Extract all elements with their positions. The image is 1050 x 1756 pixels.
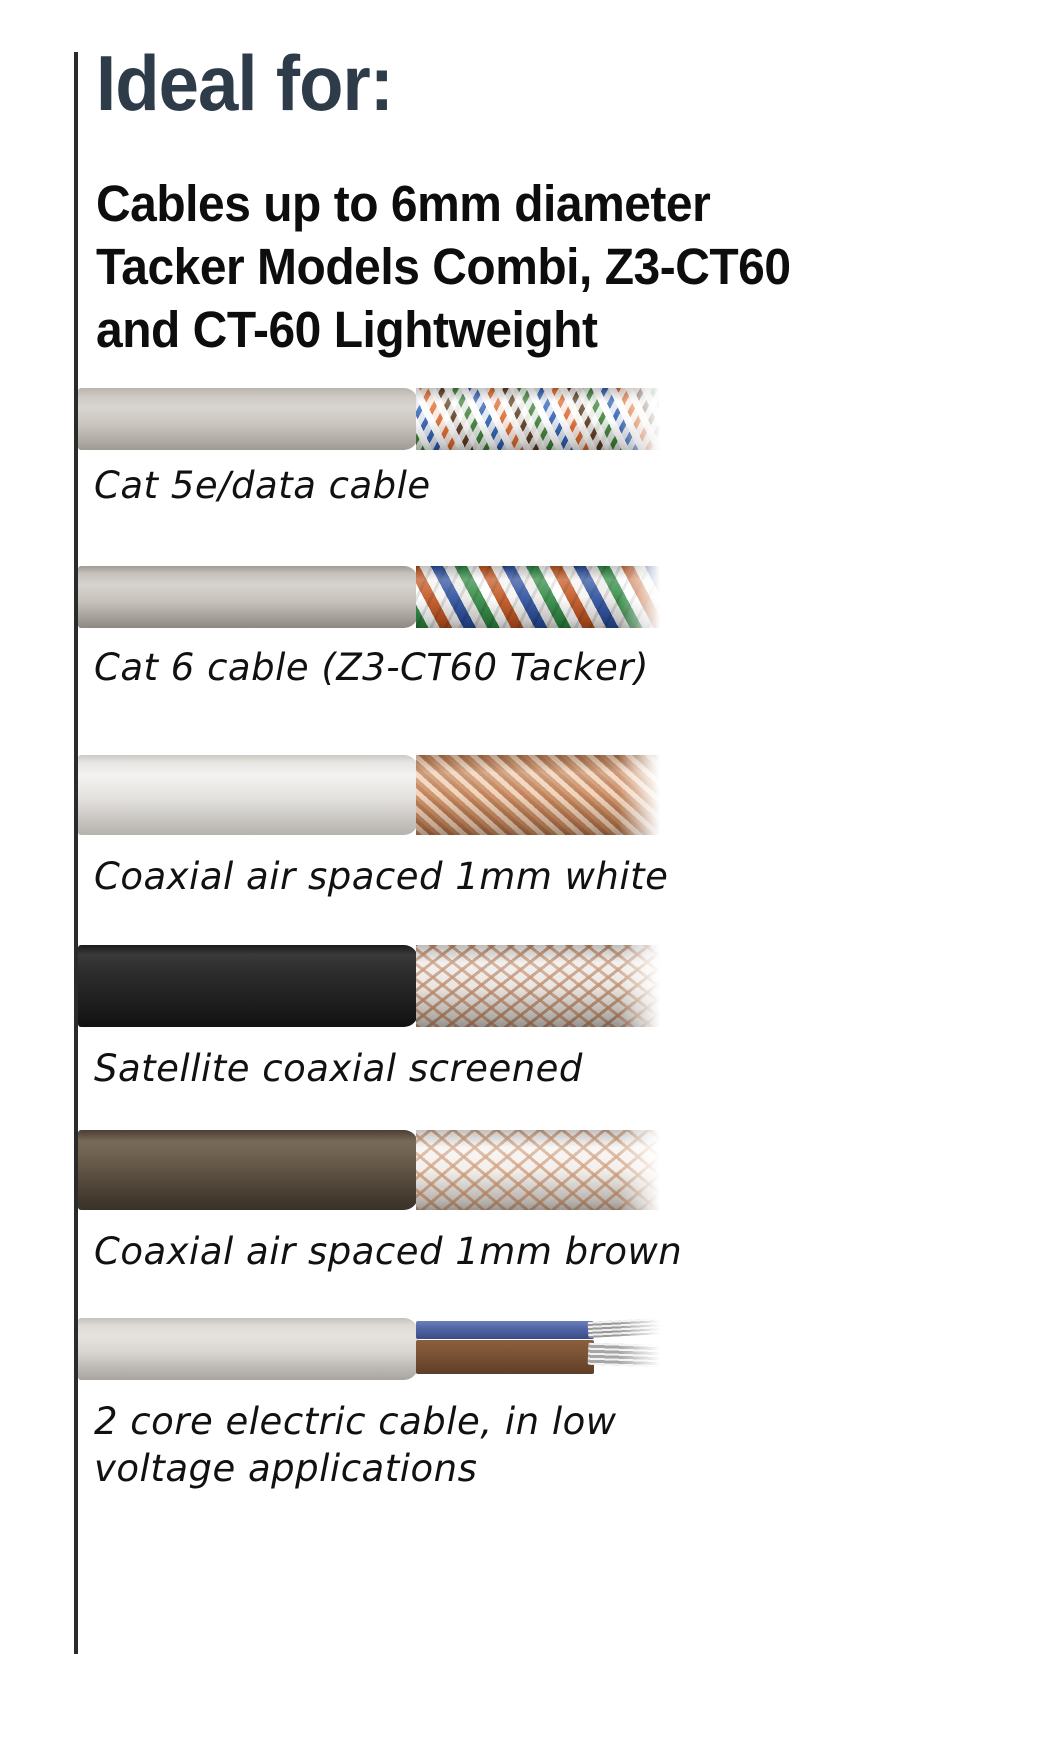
cable-conductors (416, 1318, 664, 1380)
cable-conductors (416, 945, 664, 1027)
cable-conductors (416, 755, 664, 835)
left-vertical-rule (74, 52, 78, 1654)
cable-conductors (416, 566, 664, 628)
cable-label-cat5e: Cat 5e/data cable (94, 462, 431, 509)
subtitle-line-2: Tacker Models Combi, Z3-CT60 (96, 235, 791, 298)
cable-conductors (416, 1130, 664, 1210)
cable-jacket (78, 945, 418, 1027)
cable-jacket (78, 1318, 418, 1380)
cable-label-coax-brown: Coaxial air spaced 1mm brown (94, 1228, 682, 1275)
cable-conductors (416, 388, 664, 450)
cable-jacket (78, 755, 418, 835)
cable-label-cat6: Cat 6 cable (Z3-CT60 Tacker) (94, 644, 649, 691)
cable-jacket (78, 566, 418, 628)
cable-label-coax-white: Coaxial air spaced 1mm white (94, 853, 668, 900)
cable-image-satellite (78, 945, 664, 1027)
subtitle-line-3: and CT-60 Lightweight (96, 298, 791, 361)
cable-image-cat5e (78, 388, 664, 450)
cable-image-coax-brown (78, 1130, 664, 1210)
cable-image-two-core (78, 1318, 664, 1380)
cable-jacket (78, 1130, 418, 1210)
page-title: Ideal for: (96, 42, 393, 124)
subtitle-block: Cables up to 6mm diameter Tacker Models … (96, 172, 791, 361)
cable-image-cat6 (78, 566, 664, 628)
core-blue (416, 1321, 594, 1339)
core-brown (416, 1340, 594, 1374)
bare-strands-bottom (588, 1343, 664, 1368)
cable-jacket (78, 388, 418, 450)
subtitle-line-1: Cables up to 6mm diameter (96, 172, 791, 235)
cable-label-satellite: Satellite coaxial screened (94, 1045, 583, 1092)
cable-label-two-core: 2 core electric cable, in low voltage ap… (94, 1398, 617, 1492)
cable-image-coax-white (78, 755, 664, 835)
bare-strands-top (588, 1318, 664, 1338)
